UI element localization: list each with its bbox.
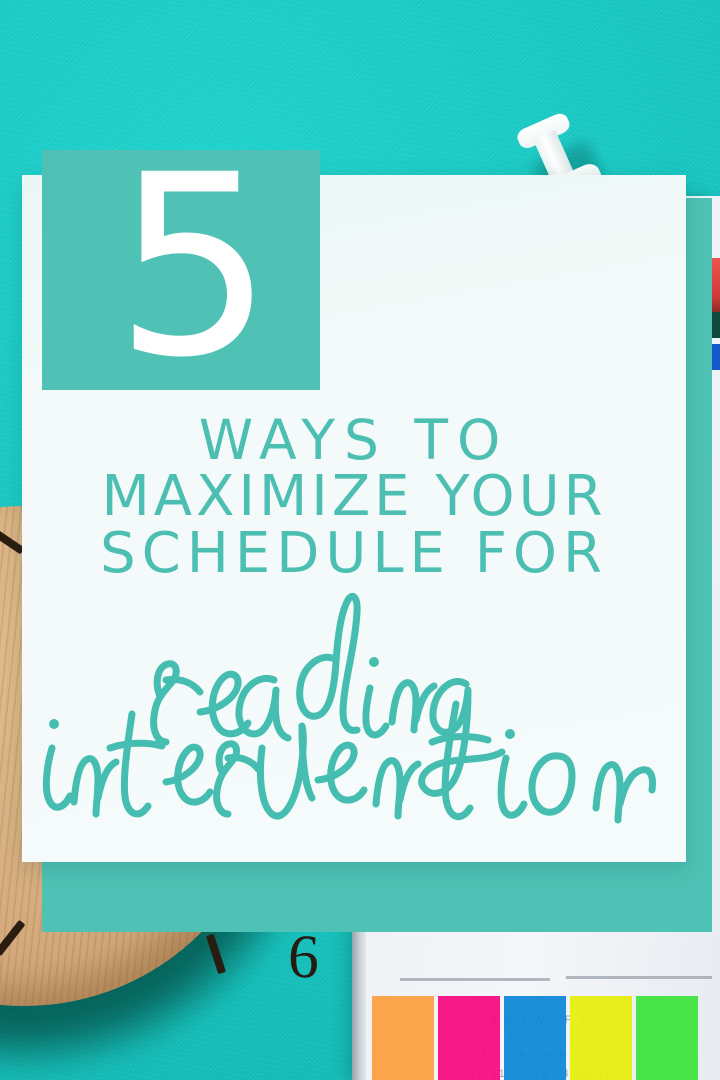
pin-graphic: S M T W T F S 1 2 3 4 5 6 7 8 9 10 11 12… xyxy=(0,0,720,1080)
sticky-tab-orange xyxy=(372,996,434,1080)
headline-line-1: WAYS TO xyxy=(40,412,668,468)
sticky-tab-blue xyxy=(504,996,566,1080)
sticky-tab-green xyxy=(636,996,698,1080)
script-word-intervention xyxy=(46,704,652,820)
sticky-tab-yellow xyxy=(570,996,632,1080)
planner-rule-line xyxy=(566,976,712,979)
clock-numeral-six: 6 xyxy=(287,921,320,993)
planner-rule-line xyxy=(400,978,550,981)
number-badge-value: 5 xyxy=(114,142,273,392)
headline: WAYS TO MAXIMIZE YOUR SCHEDULE FOR xyxy=(40,412,668,582)
sticky-tab-row xyxy=(372,996,698,1080)
script-lettering xyxy=(24,592,684,828)
number-badge: 5 xyxy=(42,150,320,390)
headline-line-3: SCHEDULE FOR xyxy=(40,525,668,582)
headline-line-2: MAXIMIZE YOUR xyxy=(40,468,668,525)
sticky-tab-pink xyxy=(438,996,500,1080)
